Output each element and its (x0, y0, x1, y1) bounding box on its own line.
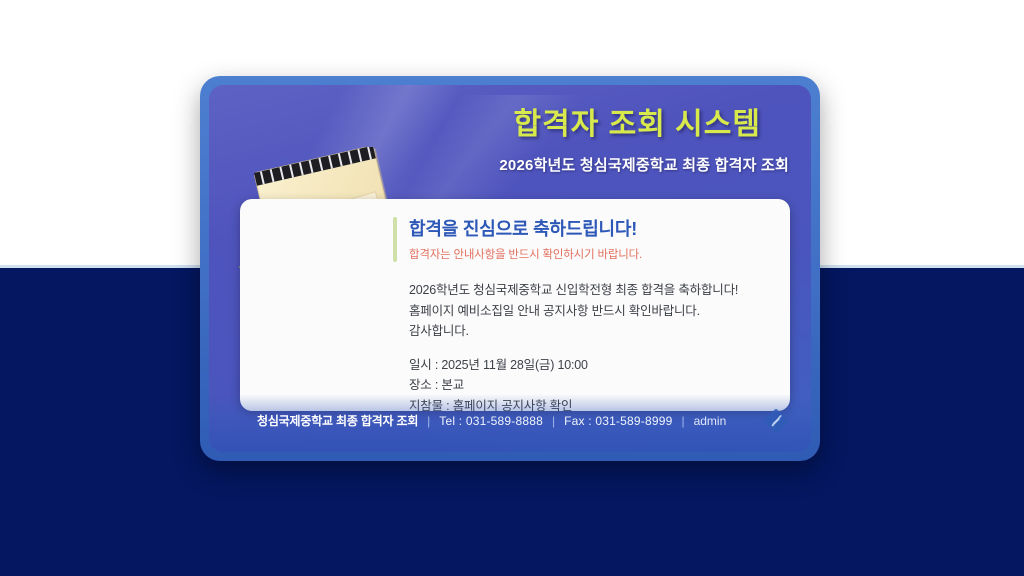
footer-separator: | (427, 414, 430, 428)
result-content-body: 합격을 진심으로 축하드립니다! 합격자는 안내사항을 반드시 확인하시기 바랍… (393, 217, 774, 416)
footer-fax: Fax : 031-589-8999 (564, 414, 672, 428)
diamond-logo-icon (763, 408, 789, 434)
footer-telephone: Tel : 031-589-8888 (439, 414, 543, 428)
footer-separator: | (681, 414, 684, 428)
message-line: 감사합니다. (409, 321, 774, 341)
heading-accent-bar (393, 217, 397, 262)
footer-school-name: 청심국제중학교 최종 합격자 조회 (257, 412, 418, 429)
congratulations-title: 합격을 진심으로 축하드립니다! (409, 217, 774, 241)
result-panel: 합격자 조회 시스템 2026학년도 청심국제중학교 최종 합격자 조회 (200, 76, 820, 461)
message-line: 2026학년도 청심국제중학교 신입학전형 최종 합격을 축하합니다! (409, 280, 774, 300)
heading-text-group: 합격을 진심으로 축하드립니다! 합격자는 안내사항을 반드시 확인하시기 바랍… (409, 217, 774, 262)
message-line: 홈페이지 예비소집일 안내 공지사항 반드시 확인바랍니다. (409, 301, 774, 321)
congratulations-heading: 합격을 진심으로 축하드립니다! 합격자는 안내사항을 반드시 확인하시기 바랍… (393, 217, 774, 262)
detail-line-datetime: 일시 : 2025년 11월 28일(금) 10:00 (409, 355, 774, 375)
footer-contact-bar: 청심국제중학교 최종 합격자 조회 | Tel : 031-589-8888 |… (257, 412, 726, 429)
message-body: 2026학년도 청심국제중학교 신입학전형 최종 합격을 축하합니다! 홈페이지… (393, 280, 774, 341)
panel-footer: 청심국제중학교 최종 합격자 조회 | Tel : 031-589-8888 |… (209, 394, 811, 452)
congratulations-note: 합격자는 안내사항을 반드시 확인하시기 바랍니다. (409, 246, 774, 262)
page-subtitle: 2026학년도 청심국제중학교 최종 합격자 조회 (269, 154, 789, 175)
page-title: 합격자 조회 시스템 (269, 107, 789, 143)
detail-line-location: 장소 : 본교 (409, 375, 774, 395)
result-panel-inner: 합격자 조회 시스템 2026학년도 청심국제중학교 최종 합격자 조회 (209, 85, 811, 452)
result-content-card: 합격을 진심으로 축하드립니다! 합격자는 안내사항을 반드시 확인하시기 바랍… (240, 199, 790, 411)
panel-header: 합격자 조회 시스템 2026학년도 청심국제중학교 최종 합격자 조회 (269, 107, 789, 175)
footer-separator: | (552, 414, 555, 428)
footer-admin-link[interactable]: admin (694, 414, 727, 428)
